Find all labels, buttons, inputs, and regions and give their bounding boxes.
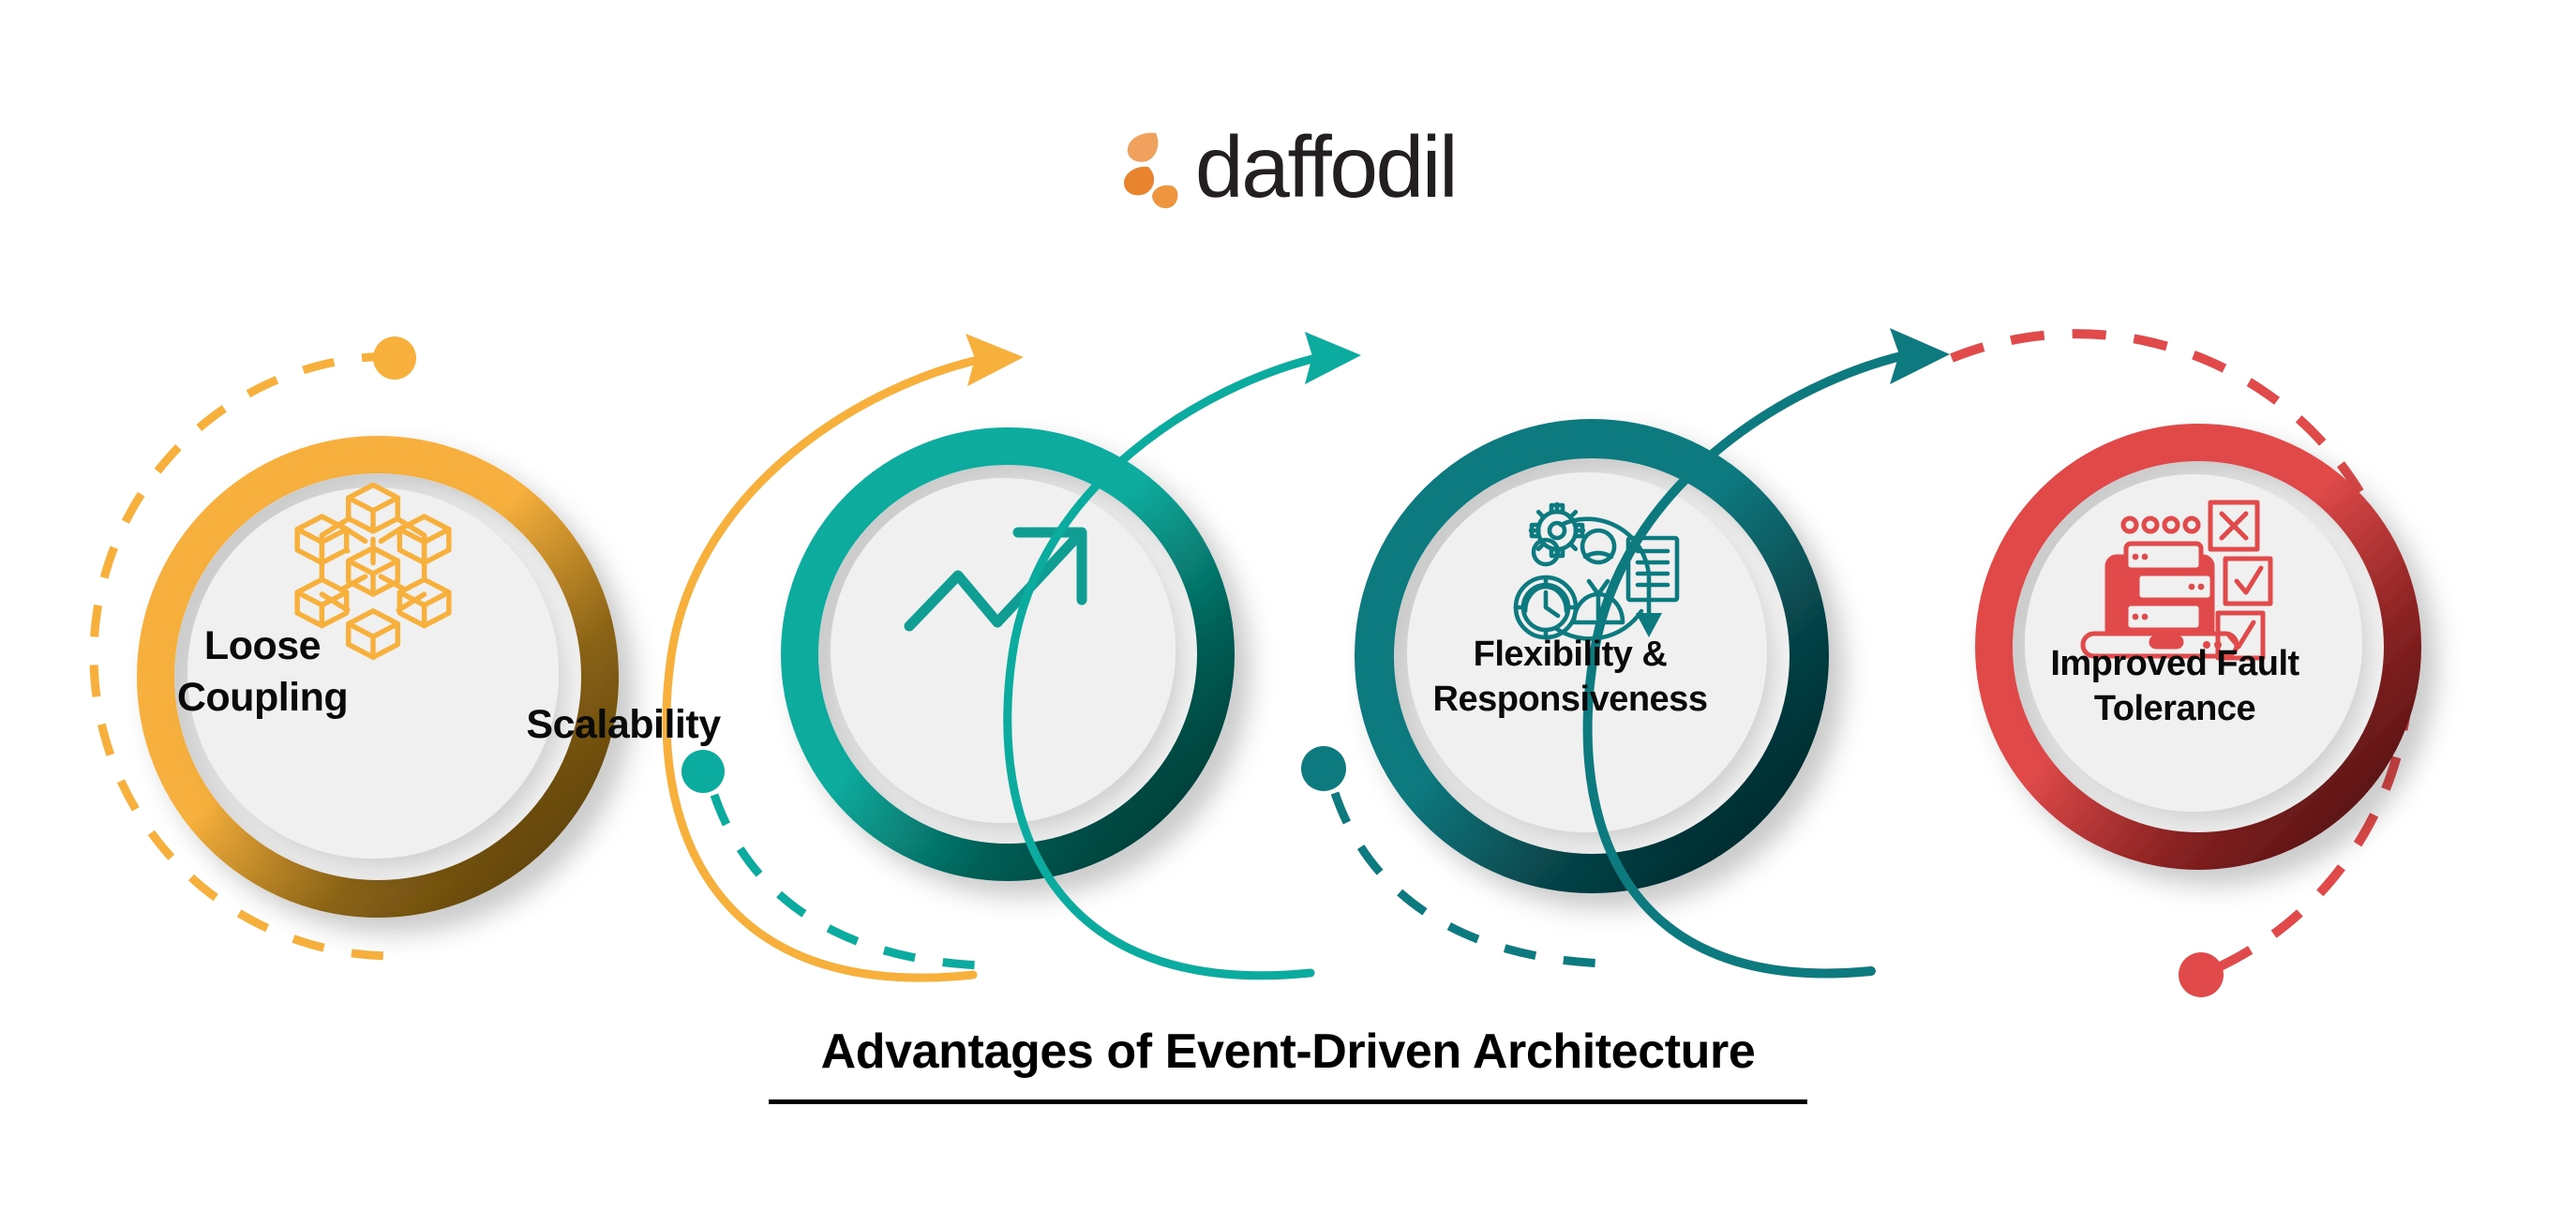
connector-1-to-2-dot [681,750,725,793]
connector-3-to-4-arrowhead [1890,328,1950,384]
connector-2-to-3-dot [1301,746,1346,791]
brand-name: daffodil [1195,124,1456,211]
step-2-group [800,446,1216,862]
step-4-face [2025,474,2362,812]
step-4-group [1952,334,2409,997]
daffodil-petals-logo-icon [1120,124,1190,210]
footer-underline [769,1099,1807,1104]
brand-logo: daffodil [0,111,2576,223]
connector-1-to-2-dashed-tail [714,795,982,965]
step-2-face [831,478,1176,823]
connector-2-to-3-arrowhead [1305,332,1361,384]
step-1-orbit-dot [373,336,416,380]
step-4-orbit-dot [2179,952,2224,997]
step-1-group [94,336,600,956]
footer-block: Advantages of Event-Driven Architecture [0,1025,2576,1104]
footer-title: Advantages of Event-Driven Architecture [821,1025,1756,1079]
infographic-canvas: daffodil Loose Coupling Scalability Flex… [0,0,2576,1226]
